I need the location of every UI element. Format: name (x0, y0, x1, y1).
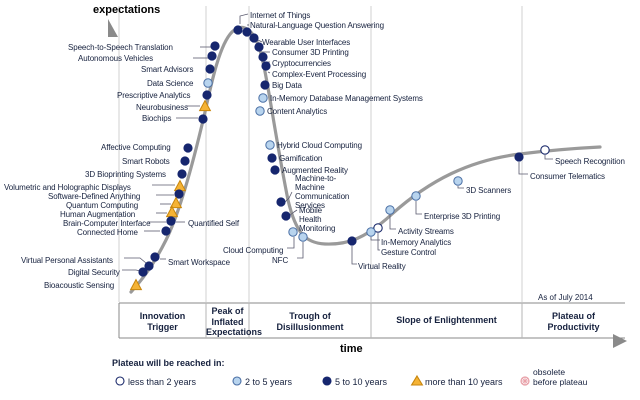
filled-circle-icon (268, 154, 276, 162)
phase-label-line: Disillusionment (276, 322, 343, 332)
filled-circle-icon (277, 198, 285, 206)
technology-label: Enterprise 3D Printing (424, 212, 500, 221)
technology-label: Gamification (279, 154, 322, 163)
legend-item-label: less than 2 years (128, 377, 196, 387)
legend-obsolete-line1: obsolete (533, 367, 565, 377)
technology-label: Cryptocurrencies (272, 59, 331, 68)
technology-label: Software-Defined Anything (48, 192, 140, 201)
filled-circle-icon (348, 237, 356, 245)
filled-circle-icon (262, 62, 270, 70)
leader-line (124, 258, 146, 263)
filled-circle-icon (206, 65, 214, 73)
technology-label: In-Memory Database Management Systems (270, 94, 423, 103)
triangle-icon (410, 374, 424, 388)
light-circle-icon (259, 94, 267, 102)
light-circle-icon (266, 141, 274, 149)
leader-line (371, 237, 380, 240)
technology-label: Hybrid Cloud Computing (277, 141, 362, 150)
leader-line (458, 186, 464, 188)
technology-label: Wearable User Interfaces (262, 38, 350, 47)
technology-label: Smart Advisors (141, 65, 193, 74)
filled-circle-icon (234, 26, 242, 34)
phase-label: InnovationTrigger (119, 311, 206, 332)
technology-label: Connected Home (77, 228, 138, 237)
light-circle-icon (412, 192, 420, 200)
right-arrow-icon (613, 334, 627, 348)
technology-label: Quantum Computing (66, 201, 138, 210)
hype-cycle-chart: expectations time As of July 2014 Platea… (0, 0, 640, 400)
technology-label: Human Augmentation (60, 210, 135, 219)
x-axis-title: time (340, 343, 363, 355)
leader-line (297, 242, 303, 258)
phase-label: Plateau ofProductivity (522, 311, 625, 332)
technology-label: Neurobusiness (136, 103, 188, 112)
crossed-circle-icon (518, 374, 532, 388)
technology-label: Data Science (147, 79, 193, 88)
technology-label: In-Memory Analytics (381, 238, 451, 247)
filled-circle-icon (151, 253, 159, 261)
filled-circle-icon (515, 153, 523, 161)
triangle-icon (167, 207, 178, 217)
technology-label: Affective Computing (101, 143, 171, 152)
leader-line (378, 233, 380, 250)
technology-label: Bioacoustic Sensing (44, 281, 114, 290)
leader-line (519, 162, 528, 174)
technology-label: NFC (272, 256, 288, 265)
technology-label: Autonomous Vehicles (78, 54, 153, 63)
phase-label-line: Inflated (211, 317, 243, 327)
filled-circle-icon (271, 166, 279, 174)
phase-label-line: Slope of Enlightenment (396, 315, 497, 325)
phase-label-line: Productivity (547, 322, 599, 332)
technology-label: 3D Scanners (466, 186, 511, 195)
light-circle-icon (256, 107, 264, 115)
filled-circle-icon (250, 34, 258, 42)
leader-line (268, 72, 270, 73)
legend-item-label: 2 to 5 years (245, 377, 292, 387)
filled-circle-icon (139, 268, 147, 276)
leader-line (416, 201, 422, 214)
up-arrow-icon (108, 19, 118, 37)
technology-label: Consumer 3D Printing (272, 48, 349, 57)
leader-line (240, 14, 248, 24)
phase-label-line: Trough of (289, 311, 331, 321)
technology-label: Speech Recognition (555, 157, 625, 166)
legend-item-label: 5 to 10 years (335, 377, 387, 387)
legend-title: Plateau will be reached in: (112, 358, 225, 368)
technology-label: Internet of Things (250, 11, 310, 20)
leader-line (122, 270, 140, 271)
phase-label: Peak ofInflatedExpectations (206, 306, 249, 338)
triangle-icon (175, 181, 186, 191)
technology-label: Gesture Control (381, 248, 436, 257)
legend-obsolete-label: obsoletebefore plateau (533, 367, 587, 387)
light-circle-icon (289, 228, 297, 236)
technology-label: Biochips (142, 114, 171, 123)
phase-label-line: Plateau of (552, 311, 595, 321)
phase-label: Trough ofDisillusionment (249, 311, 371, 332)
technology-label: Digital Security (68, 268, 120, 277)
hype-curve (131, 27, 600, 292)
technology-label: Smart Robots (122, 157, 170, 166)
technology-label: Brain-Computer Interface (63, 219, 150, 228)
light-circle-icon (204, 79, 212, 87)
phase-label-line: Trigger (147, 322, 178, 332)
technology-label: Machine-to-Machine Communication Service… (295, 174, 353, 210)
technology-label: Complex-Event Processing (272, 70, 366, 79)
filled-circle-icon (178, 170, 186, 178)
technology-label: Consumer Telematics (530, 172, 605, 181)
technology-label: Activity Streams (398, 227, 454, 236)
filled-circle-icon (261, 81, 269, 89)
filled-circle-icon (211, 42, 219, 50)
legend-item-label: more than 10 years (425, 377, 503, 387)
phase-label-line: Innovation (140, 311, 186, 321)
light-circle-icon (367, 228, 375, 236)
technology-label: Speech-to-Speech Translation (68, 43, 173, 52)
filled-circle-icon (184, 144, 192, 152)
technology-label: Virtual Reality (358, 262, 406, 271)
technology-label: Prescriptive Analytics (117, 91, 190, 100)
technology-label: Quantified Self (188, 219, 239, 228)
y-axis-title: expectations (93, 4, 160, 16)
light-circle-icon (386, 206, 394, 214)
filled-circle-icon (167, 217, 175, 225)
technology-label: Mobile Health Monitoring (299, 206, 345, 233)
leader-line (545, 155, 553, 159)
technology-label: Smart Workspace (168, 258, 230, 267)
technology-label: Natural-Language Question Answering (250, 21, 384, 30)
light-circle-icon (299, 233, 307, 241)
light-circle-icon (454, 177, 462, 185)
technology-label: Cloud Computing (223, 246, 283, 255)
open-circle-icon (541, 146, 549, 154)
filled-circle-icon (208, 52, 216, 60)
filled-circle-icon (203, 91, 211, 99)
legend-obsolete-line2: before plateau (533, 377, 587, 387)
technology-label: Virtual Personal Assistants (21, 256, 113, 265)
technology-label: 3D Bioprinting Systems (85, 170, 166, 179)
phase-label-line: Peak of (211, 306, 243, 316)
as-of-date: As of July 2014 (538, 293, 593, 302)
filled-circle-icon (162, 227, 170, 235)
light-circle-icon (230, 374, 244, 388)
phase-label: Slope of Enlightenment (371, 315, 522, 326)
open-circle-icon (113, 374, 127, 388)
filled-circle-icon (259, 53, 267, 61)
leader-line (352, 246, 357, 264)
filled-circle-icon (282, 212, 290, 220)
filled-circle-icon (199, 115, 207, 123)
filled-circle-icon (181, 157, 189, 165)
technology-label: Volumetric and Holographic Displays (4, 183, 131, 192)
technology-label: Content Analytics (267, 107, 327, 116)
technology-label: Big Data (272, 81, 302, 90)
leader-line (287, 237, 294, 248)
filled-circle-icon (320, 374, 334, 388)
